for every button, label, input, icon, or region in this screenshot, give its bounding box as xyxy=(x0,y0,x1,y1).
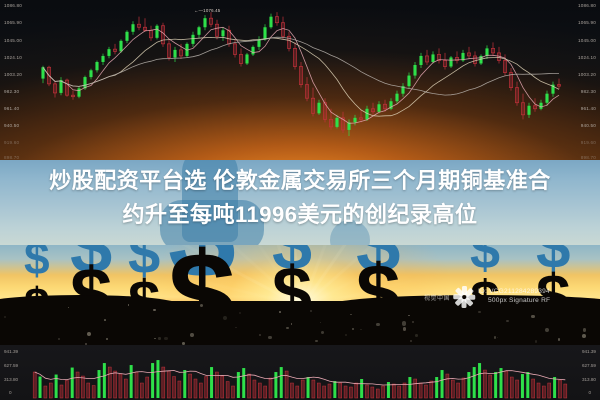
vcg-brand-label: 视觉中国 xyxy=(424,293,450,302)
volume-y-label-left-3: 0 xyxy=(9,390,12,395)
bokeh-dot xyxy=(291,323,293,325)
bokeh-dot xyxy=(153,309,156,312)
bokeh-dot xyxy=(531,315,534,318)
bokeh-dot xyxy=(164,337,167,340)
news-article-image: 1086.80 1065.90 1045.00 1024.10 1003.20 … xyxy=(0,0,600,400)
volume-y-label-right-3: 0 xyxy=(588,390,591,395)
bokeh-dot xyxy=(286,327,289,330)
volume-y-label-right-1: 627.59 xyxy=(582,363,596,368)
price-y-label-left-0: 1086.80 xyxy=(4,3,22,8)
starburst-icon xyxy=(453,286,475,308)
candlestick-plot-area xyxy=(0,0,600,160)
price-y-label-left-4: 1003.20 xyxy=(4,72,22,77)
price-y-label-left-5: 982.30 xyxy=(4,89,19,94)
price-y-label-left-3: 1024.10 xyxy=(4,55,22,60)
price-candlestick-chart: 1086.80 1065.90 1045.00 1024.10 1003.20 … xyxy=(0,0,600,160)
bokeh-dot xyxy=(259,334,261,336)
price-y-label-right-5: 982.30 xyxy=(581,89,596,94)
price-y-label-right-4: 1003.20 xyxy=(578,72,596,77)
price-y-label-right-8: 919.60 xyxy=(581,140,596,145)
bokeh-dot xyxy=(320,322,321,323)
price-y-label-right-1: 1065.90 xyxy=(578,20,596,25)
price-y-label-right-0: 1086.80 xyxy=(578,3,596,8)
price-y-label-left-1: 1065.90 xyxy=(4,20,22,25)
vcg-watermark: 视觉中国 ID: VCG211284289394 500px Signature… xyxy=(424,286,550,308)
price-y-label-left-6: 961.40 xyxy=(4,106,19,111)
price-y-label-right-2: 1045.00 xyxy=(578,38,596,43)
bokeh-dot xyxy=(190,333,194,337)
dollar-sign-icon-7-top: $ xyxy=(470,245,500,273)
bokeh-dot xyxy=(158,337,160,339)
price-y-label-left-2: 1045.00 xyxy=(4,38,22,43)
bokeh-dot xyxy=(235,327,236,328)
price-y-label-left-7: 940.50 xyxy=(4,123,19,128)
volume-y-label-left-1: 627.59 xyxy=(4,363,18,368)
bokeh-dot xyxy=(350,314,352,316)
price-y-label-right-3: 1024.10 xyxy=(578,55,596,60)
bokeh-dot xyxy=(558,338,561,341)
bokeh-dot xyxy=(494,336,496,338)
bokeh-dot xyxy=(535,340,537,342)
price-y-label-left-8: 919.60 xyxy=(4,140,19,145)
peak-price-annotation: ←—1076.45 xyxy=(194,8,220,13)
dollar-sign-icon-8-top: $ xyxy=(536,245,570,274)
bokeh-dot xyxy=(506,320,509,323)
volume-plot-area xyxy=(0,345,600,400)
volume-y-label-left-0: 941.39 xyxy=(4,349,18,354)
volume-y-label-right-2: 313.80 xyxy=(582,377,596,382)
volume-bar-chart: 941.39 627.59 313.80 0 941.39 627.59 313… xyxy=(0,345,600,400)
bokeh-dot xyxy=(345,334,347,336)
bokeh-dot xyxy=(412,321,414,323)
volume-y-label-left-2: 313.80 xyxy=(4,377,18,382)
bokeh-dot xyxy=(497,337,498,338)
dollar-sign-icon-1-top: $ xyxy=(24,245,50,279)
bokeh-dot xyxy=(310,310,312,312)
watermark-id: ID: VCG211284289394 xyxy=(478,288,550,297)
bokeh-dot xyxy=(106,338,108,340)
volume-y-label-right-0: 941.39 xyxy=(582,349,596,354)
dollar-sign-icon-3-top: $ xyxy=(128,245,160,279)
headline-banner: 炒股配资平台选 伦敦金属交易所三个月期铜基准合 约升至每吨11996美元的创纪录… xyxy=(0,160,600,245)
bokeh-dot xyxy=(268,336,271,339)
headline-line-1: 炒股配资平台选 伦敦金属交易所三个月期铜基准合 xyxy=(0,164,600,198)
price-y-label-right-6: 961.40 xyxy=(581,106,596,111)
bokeh-dot xyxy=(315,340,317,342)
headline-line-2: 约升至每吨11996美元的创纪录高位 xyxy=(0,198,600,232)
watermark-license: 500px Signature RF xyxy=(478,297,550,306)
price-y-label-right-7: 940.50 xyxy=(581,123,596,128)
